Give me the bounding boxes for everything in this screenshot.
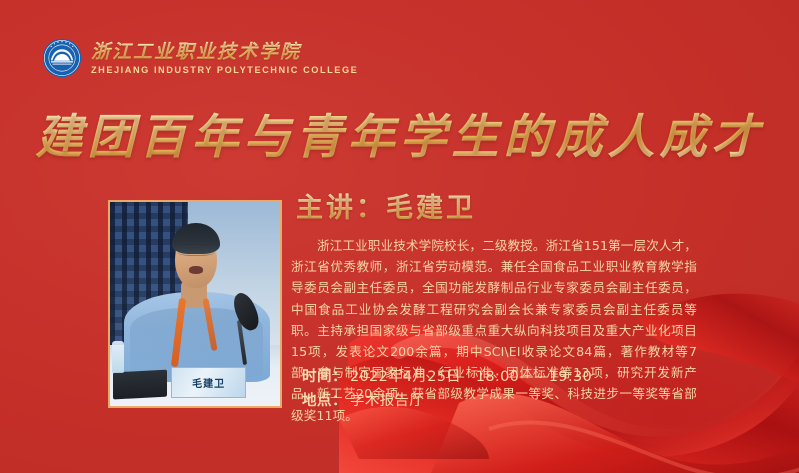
photo-water-bottle — [112, 341, 124, 374]
event-location-value: 学术报告厅 — [350, 389, 424, 413]
event-time-value: 2022年4月25日 18:00——19:30 — [350, 365, 592, 389]
poster-title: 建团百年与青年学生的成人成才 — [0, 108, 799, 168]
event-time-row: 时间： 2022年4月25日 18:00——19:30 — [302, 365, 592, 389]
brand-text: 浙江工业职业技术学院 ZHEJIANG INDUSTRY POLYTECHNIC… — [91, 41, 358, 76]
event-details: 时间： 2022年4月25日 18:00——19:30 地点： 学术报告厅 — [302, 365, 592, 413]
speaker-heading: 主讲：毛建卫 — [296, 192, 476, 226]
brand-name-cn: 浙江工业职业技术学院 — [91, 41, 358, 63]
speaker-photo-image: 毛建卫 — [110, 202, 280, 406]
photo-mouth — [189, 266, 203, 273]
photo-glasses — [177, 246, 214, 256]
event-time-label: 时间： — [302, 365, 347, 389]
college-emblem-icon — [42, 38, 82, 78]
brand-header: 浙江工业职业技术学院 ZHEJIANG INDUSTRY POLYTECHNIC… — [42, 38, 358, 78]
photo-nameplate-text: 毛建卫 — [192, 375, 225, 390]
lecture-poster: 浙江工业职业技术学院 ZHEJIANG INDUSTRY POLYTECHNIC… — [0, 0, 799, 473]
photo-nameplate: 毛建卫 — [171, 367, 246, 398]
event-location-row: 地点： 学术报告厅 — [302, 389, 592, 413]
photo-laptop — [113, 370, 167, 399]
event-location-label: 地点： — [302, 389, 347, 413]
speaker-photo: 毛建卫 — [108, 200, 282, 408]
brand-name-en: ZHEJIANG INDUSTRY POLYTECHNIC COLLEGE — [91, 65, 358, 76]
